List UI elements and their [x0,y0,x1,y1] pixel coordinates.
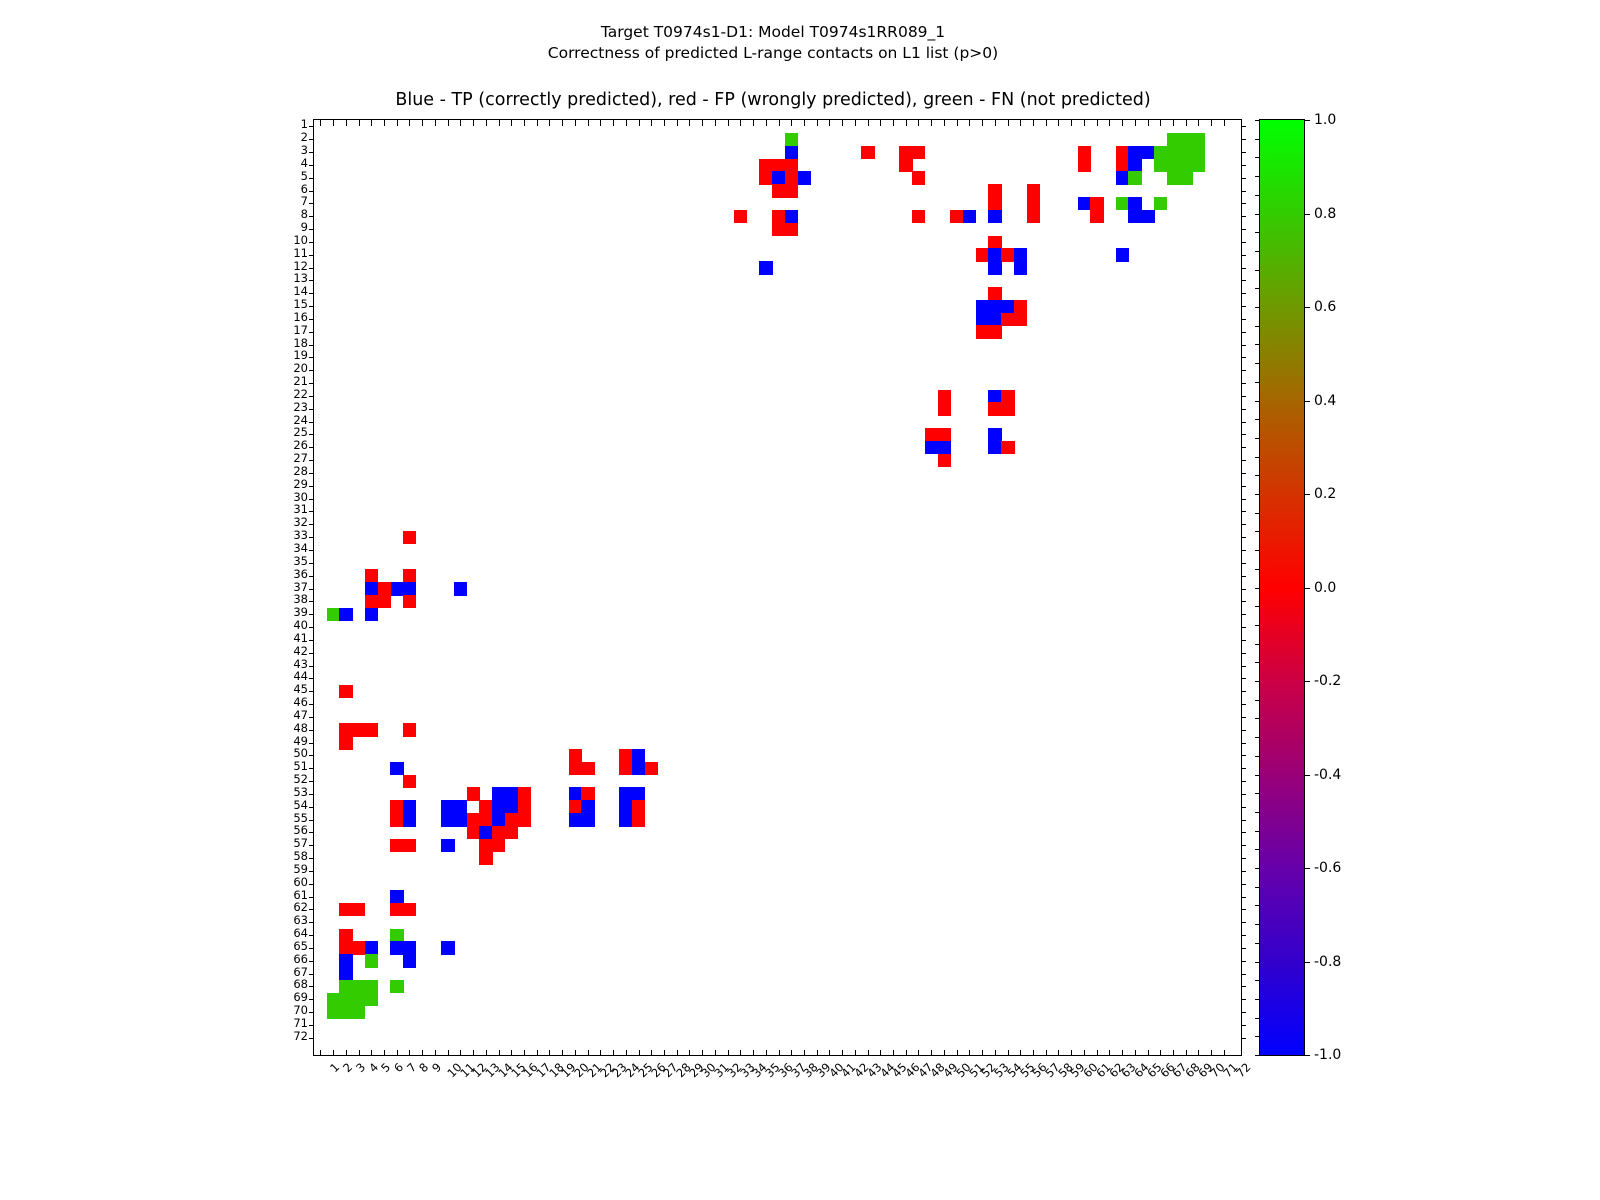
x-axis-tick-top [664,120,665,126]
x-axis-tick-label: 8 [417,1060,432,1075]
y-axis-tick [309,717,314,718]
colorbar-minor-tick [1255,139,1260,140]
x-axis-tick [524,1050,525,1056]
colorbar-minor-tick [1255,980,1260,981]
y-axis-tick-label: 51 [258,761,308,772]
x-axis-tick-label: 2 [340,1060,355,1075]
x-axis-tick-top [588,120,589,126]
y-axis-tick-right [1241,1012,1246,1013]
x-axis-tick [728,1050,729,1056]
x-axis-tick [995,1050,996,1056]
x-axis-tick [359,1050,360,1056]
y-axis-tick [309,1012,314,1013]
x-axis-tick-top [639,120,640,126]
y-axis-tick-right [1241,601,1246,602]
y-axis-tick-right [1241,126,1246,127]
x-axis-tick [1224,1050,1225,1056]
x-axis-tick [791,1050,792,1056]
y-axis-tick-right [1241,139,1246,140]
heatmap-cell [1154,197,1167,210]
y-axis-tick-label: 71 [258,1018,308,1029]
y-axis-tick-label: 60 [258,877,308,888]
x-axis-tick-top [868,120,869,126]
x-axis-tick-top [384,120,385,126]
y-axis-tick [309,922,314,923]
x-axis-tick-top [435,120,436,126]
heatmap-cell [988,197,1001,210]
colorbar-minor-tick [1255,382,1260,383]
heatmap-cell [938,441,951,454]
x-axis-tick [613,1050,614,1056]
y-axis-tick [309,332,314,333]
heatmap-cell [365,723,378,736]
heatmap-cell [492,839,505,852]
y-axis-tick-label: 4 [258,158,308,169]
heatmap-cell [759,261,772,274]
colorbar-minor-tick [1255,887,1260,888]
y-axis-labels: 1234567891011121314151617181920212223242… [253,119,308,1056]
colorbar-minor-tick [1255,606,1260,607]
heatmap-cell [988,325,1001,338]
x-axis-tick [1148,1050,1149,1056]
y-axis-tick-label: 26 [258,440,308,451]
y-axis-tick [309,383,314,384]
heatmap-cell [365,980,378,993]
heatmap-cell [899,146,912,159]
y-axis-tick-label: 5 [258,171,308,182]
contact-map-plot[interactable] [313,119,1242,1056]
colorbar-minor-tick [1255,344,1260,345]
heatmap-cell [1167,171,1180,184]
colorbar-minor-tick [1255,401,1260,402]
colorbar-tick [1304,307,1310,308]
y-axis-tick-right [1241,845,1246,846]
x-axis-tick-top [524,120,525,126]
heatmap-cell [569,762,582,775]
heatmap-cell [976,248,989,261]
x-axis-tick-top [1046,120,1047,126]
colorbar-minor-tick [1255,120,1260,121]
heatmap-cell [1167,133,1180,146]
x-axis-tick-top [371,120,372,126]
colorbar-tick-label: 0.6 [1314,302,1336,312]
heatmap-cell [352,723,365,736]
heatmap-cell [479,813,492,826]
x-axis-tick-top [499,120,500,126]
y-axis-tick-label: 19 [258,350,308,361]
x-axis-tick [397,1050,398,1056]
y-axis-tick-right [1241,203,1246,204]
y-axis-tick-right [1241,935,1246,936]
heatmap-cell [1090,210,1103,223]
x-axis-tick [651,1050,652,1056]
x-axis-tick-top [473,120,474,126]
x-axis-tick-top [893,120,894,126]
colorbar-tick [1304,588,1310,589]
heatmap-cell [403,595,416,608]
y-axis-tick-right [1241,691,1246,692]
heatmap-cell [581,813,594,826]
y-axis-tick-label: 11 [258,248,308,259]
x-axis-tick [486,1050,487,1056]
y-axis-tick-label: 18 [258,338,308,349]
y-axis-tick-right [1241,550,1246,551]
y-axis-tick-right [1241,922,1246,923]
y-axis-tick-label: 27 [258,453,308,464]
y-axis-tick-right [1241,884,1246,885]
colorbar-minor-tick [1255,475,1260,476]
heatmap-cell [454,800,467,813]
heatmap-cell [988,236,1001,249]
heatmap-cell [1014,248,1027,261]
y-axis-tick-label: 14 [258,286,308,297]
heatmap-cell [365,582,378,595]
x-axis-tick [880,1050,881,1056]
y-axis-tick-label: 1 [258,119,308,130]
y-axis-tick [309,126,314,127]
colorbar-tick-label: -1.0 [1314,1050,1341,1060]
x-axis-tick [409,1050,410,1056]
heatmap-cell [352,903,365,916]
y-axis-tick-label: 55 [258,813,308,824]
colorbar-minor-tick [1255,214,1260,215]
y-axis-tick-right [1241,216,1246,217]
y-axis-tick [309,370,314,371]
y-axis-tick [309,845,314,846]
heatmap-cell [339,967,352,980]
x-axis-tick-top [728,120,729,126]
y-axis-tick-label: 67 [258,967,308,978]
y-axis-tick [309,781,314,782]
heatmap-cell [619,813,632,826]
x-axis-tick [448,1050,449,1056]
y-axis-tick-label: 69 [258,992,308,1003]
x-axis-tick-top [1122,120,1123,126]
y-axis-tick [309,948,314,949]
y-axis-tick [309,794,314,795]
heatmap-cell [339,941,352,954]
y-axis-tick [309,961,314,962]
y-axis-tick-right [1241,383,1246,384]
x-axis-tick-top [1020,120,1021,126]
heatmap-cell [632,800,645,813]
heatmap-cell [403,941,416,954]
y-axis-tick [309,1038,314,1039]
y-axis-tick-right [1241,1025,1246,1026]
y-axis-tick-label: 12 [258,261,308,272]
heatmap-cell [912,146,925,159]
x-axis-tick-label: 3 [353,1060,368,1075]
x-axis-tick-top [613,120,614,126]
heatmap-cell [1090,197,1103,210]
heatmap-cell [365,595,378,608]
colorbar-minor-tick [1255,531,1260,532]
heatmap-cell [798,171,811,184]
x-axis-tick-top [969,120,970,126]
y-axis-tick [309,858,314,859]
y-axis-tick-right [1241,524,1246,525]
x-axis-tick [1020,1050,1021,1056]
heatmap-cell [569,813,582,826]
x-axis-tick-top [931,120,932,126]
y-axis-tick-label: 30 [258,492,308,503]
y-axis-tick-label: 57 [258,838,308,849]
heatmap-cell [390,582,403,595]
colorbar-tick [1304,775,1310,776]
heatmap-cell [327,1006,340,1019]
y-axis-tick-right [1241,948,1246,949]
y-axis-tick [309,974,314,975]
y-axis-tick [309,653,314,654]
heatmap-cell [988,402,1001,415]
heatmap-cell [1001,300,1014,313]
y-axis-tick [309,755,314,756]
heatmap-cell [938,454,951,467]
heatmap-cell [518,787,531,800]
x-axis-tick-top [1211,120,1212,126]
heatmap-cell [467,787,480,800]
heatmap-cell [339,685,352,698]
y-axis-tick-right [1241,1038,1246,1039]
heatmap-cell [759,159,772,172]
colorbar-minor-tick [1255,905,1260,906]
x-axis-tick-top [549,120,550,126]
y-axis-tick-right [1241,499,1246,500]
heatmap-cell [988,248,1001,261]
colorbar-tick [1304,214,1310,215]
heatmap-cell [327,608,340,621]
heatmap-cell [492,826,505,839]
y-axis-tick-label: 13 [258,273,308,284]
x-axis-tick-top [1160,120,1161,126]
x-axis-tick [715,1050,716,1056]
y-axis-tick-right [1241,858,1246,859]
heatmap-cell [988,184,1001,197]
colorbar-tick-label: 0.8 [1314,209,1336,219]
heatmap-cell [339,1006,352,1019]
y-axis-tick-label: 39 [258,607,308,618]
x-axis-tick [460,1050,461,1056]
y-axis-tick [309,242,314,243]
y-axis-tick-label: 61 [258,890,308,901]
y-axis-tick-label: 16 [258,312,308,323]
heatmap-cell [378,595,391,608]
x-axis-tick-top [460,120,461,126]
figure-canvas: Target T0974s1-D1: Model T0974s1RR089_1 … [0,0,1600,1200]
y-axis-tick [309,191,314,192]
y-axis-tick-label: 70 [258,1005,308,1016]
x-axis-tick [1033,1050,1034,1056]
y-axis-tick-label: 56 [258,825,308,836]
figure-title: Target T0974s1-D1: Model T0974s1RR089_1 … [0,22,1546,64]
heatmap-cell [569,749,582,762]
x-axis-tick [537,1050,538,1056]
heatmap-cell [505,813,518,826]
x-axis-tick-top [1008,120,1009,126]
x-axis-tick [740,1050,741,1056]
y-axis-tick [309,255,314,256]
heatmap-cell [327,993,340,1006]
colorbar-tick-label: 0.0 [1314,583,1336,593]
heatmap-cell [339,608,352,621]
heatmap-cell [1116,159,1129,172]
heatmap-cell [1116,171,1129,184]
heatmap-cell [390,813,403,826]
heatmap-cell [734,210,747,223]
y-axis-tick-label: 33 [258,530,308,541]
x-axis-tick-top [995,120,996,126]
x-axis-tick-top [1058,120,1059,126]
heatmap-cell [339,980,352,993]
x-axis-tick [969,1050,970,1056]
y-axis-tick-right [1241,807,1246,808]
heatmap-cell [339,723,352,736]
heatmap-cell [454,582,467,595]
heatmap-cell [390,980,403,993]
y-axis-tick-right [1241,999,1246,1000]
colorbar-minor-tick [1255,962,1260,963]
heatmap-cell [759,171,772,184]
y-axis-tick-right [1241,511,1246,512]
colorbar-minor-tick [1255,569,1260,570]
x-axis-tick [511,1050,512,1056]
heatmap-cell [1001,313,1014,326]
x-axis-tick [384,1050,385,1056]
y-axis-tick-label: 45 [258,684,308,695]
heatmap-cell [1014,261,1027,274]
heatmap-cell [339,929,352,942]
y-axis-tick-right [1241,332,1246,333]
y-axis-tick [309,319,314,320]
heatmap-cell [988,287,1001,300]
heatmap-cell [403,531,416,544]
colorbar-minor-tick [1255,195,1260,196]
y-axis-tick-right [1241,909,1246,910]
heatmap-cell [785,171,798,184]
x-axis-tick [575,1050,576,1056]
heatmap-cell [1167,146,1180,159]
x-axis-tick-top [626,120,627,126]
y-axis-tick-right [1241,306,1246,307]
y-axis-tick-right [1241,165,1246,166]
colorbar-minor-tick [1255,157,1260,158]
colorbar-minor-tick [1255,326,1260,327]
x-axis-tick-top [1173,120,1174,126]
x-axis-tick [639,1050,640,1056]
heatmap-cell [1141,210,1154,223]
y-axis-tick [309,986,314,987]
y-axis-tick-right [1241,730,1246,731]
x-axis-tick-label: 72 [1233,1060,1253,1080]
y-axis-tick-label: 22 [258,389,308,400]
heatmap-cell [1001,441,1014,454]
heatmap-cell [772,223,785,236]
y-axis-tick-label: 38 [258,594,308,605]
heatmap-cells [314,120,1241,1055]
y-axis-tick-label: 40 [258,620,308,631]
heatmap-cell [390,800,403,813]
x-axis-tick [549,1050,550,1056]
heatmap-cell [339,993,352,1006]
y-axis-tick-right [1241,717,1246,718]
x-axis-tick-top [448,120,449,126]
x-axis-tick-label: 6 [391,1060,406,1075]
heatmap-cell [339,736,352,749]
colorbar-tick-label: 0.2 [1314,489,1336,499]
heatmap-cell [479,839,492,852]
y-axis-tick-right [1241,255,1246,256]
x-axis-tick [1097,1050,1098,1056]
y-axis-tick [309,357,314,358]
y-axis-tick-right [1241,781,1246,782]
x-axis-tick-top [511,120,512,126]
heatmap-cell [1179,171,1192,184]
x-axis-tick [829,1050,830,1056]
y-axis-tick-label: 23 [258,402,308,413]
x-axis-tick-top [689,120,690,126]
heatmap-cell [390,941,403,954]
y-axis-tick-right [1241,627,1246,628]
y-axis-tick [309,524,314,525]
heatmap-cell [581,762,594,775]
x-axis-tick [702,1050,703,1056]
x-axis-tick-top [842,120,843,126]
y-axis-tick [309,897,314,898]
x-axis-tick [689,1050,690,1056]
x-axis-tick [1008,1050,1009,1056]
colorbar-minor-tick [1255,513,1260,514]
x-axis-tick [855,1050,856,1056]
y-axis-tick-right [1241,871,1246,872]
x-axis-tick-label: 4 [366,1060,381,1075]
colorbar-tick-label: -0.6 [1314,863,1341,873]
colorbar-tick [1304,494,1310,495]
heatmap-cell [963,210,976,223]
heatmap-cell [1001,402,1014,415]
heatmap-cell [1014,313,1027,326]
figure-legend-subtitle: Blue - TP (correctly predicted), red - F… [0,90,1546,110]
y-axis-tick-label: 24 [258,415,308,426]
y-axis-tick-right [1241,986,1246,987]
x-axis-tick-top [651,120,652,126]
x-axis-tick-top [575,120,576,126]
y-axis-tick-right [1241,832,1246,833]
y-axis-tick-label: 28 [258,466,308,477]
y-axis-tick [309,293,314,294]
x-axis-tick [320,1050,321,1056]
y-axis-tick [309,666,314,667]
heatmap-cell [632,749,645,762]
y-axis-tick [309,807,314,808]
colorbar-tick [1304,681,1310,682]
y-axis-tick-right [1241,242,1246,243]
figure-title-line-2: Correctness of predicted L-range contact… [0,43,1546,64]
x-axis-tick-top [804,120,805,126]
y-axis-tick [309,550,314,551]
heatmap-cell [390,903,403,916]
heatmap-cell [403,800,416,813]
x-axis-tick [1160,1050,1161,1056]
x-axis-tick-top [944,120,945,126]
y-axis-tick [309,871,314,872]
y-axis-tick [309,216,314,217]
colorbar-minor-tick [1255,868,1260,869]
heatmap-cell [1167,159,1180,172]
heatmap-cell [1128,146,1141,159]
y-axis-tick-label: 25 [258,427,308,438]
x-axis-tick [957,1050,958,1056]
heatmap-cell [1154,159,1167,172]
